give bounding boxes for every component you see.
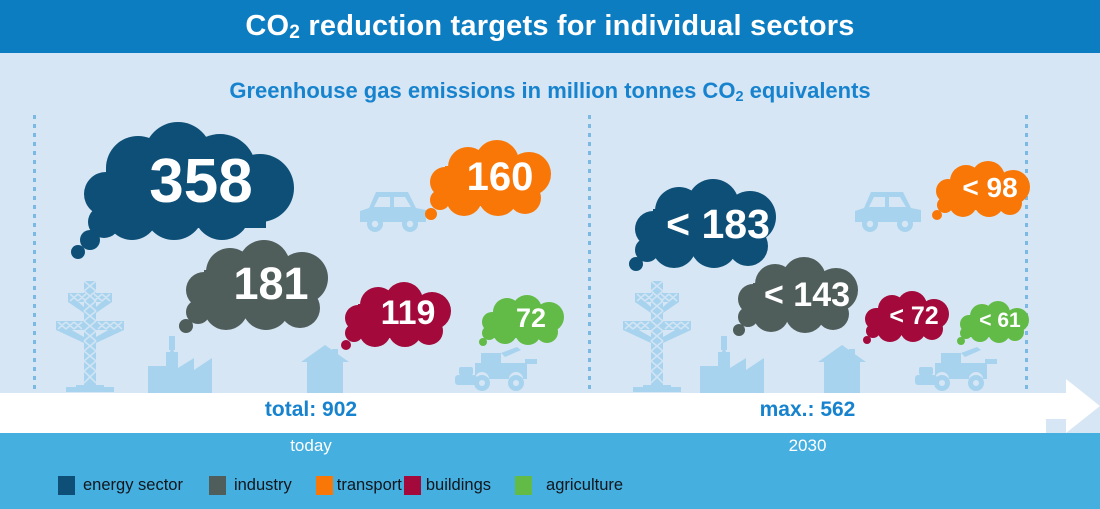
period-label-today: today xyxy=(33,436,589,456)
title-bar: CO2 reduction targets for individual sec… xyxy=(0,0,1100,53)
legend-label-transport: transport xyxy=(337,476,402,495)
legend: energy sector industry transport buildin… xyxy=(58,473,623,497)
legend-item-agriculture[interactable]: agriculture xyxy=(515,473,623,497)
factory-icon-today xyxy=(148,336,212,394)
page-title-suffix: reduction targets for individual sectors xyxy=(300,10,854,42)
period-label-2030: 2030 xyxy=(589,436,1026,456)
cloud-buildings-2030: < 72 xyxy=(862,290,956,348)
legend-swatch-transport xyxy=(316,476,333,495)
legend-item-buildings[interactable]: buildings xyxy=(404,473,491,497)
factory-icon-2030 xyxy=(700,336,764,394)
total-label-2030: max.: 562 xyxy=(589,398,1026,422)
legend-swatch-buildings xyxy=(404,476,421,495)
legend-swatch-industry xyxy=(209,476,226,495)
cloud-buildings-today: 119 xyxy=(340,281,462,355)
legend-label-buildings: buildings xyxy=(426,476,491,495)
legend-item-transport[interactable]: transport xyxy=(316,473,402,497)
house-icon-2030 xyxy=(818,345,866,395)
chart-subtitle: Greenhouse gas emissions in million tonn… xyxy=(0,78,1100,104)
legend-label-agriculture: agriculture xyxy=(546,476,623,495)
legend-item-energy-sector[interactable]: energy sector xyxy=(58,473,183,497)
car-icon-2030 xyxy=(853,186,923,234)
page-title-prefix: CO xyxy=(245,10,289,42)
legend-swatch-energy-sector xyxy=(58,476,75,495)
legend-label-energy-sector: energy sector xyxy=(83,476,183,495)
timeline-arrow-icon xyxy=(1022,379,1100,447)
total-label-today: total: 902 xyxy=(33,398,589,422)
infographic-root: CO2 reduction targets for individual sec… xyxy=(0,0,1100,509)
cloud-agriculture-2030: < 61 xyxy=(957,300,1035,348)
page-title-subscript: 2 xyxy=(289,22,300,43)
cloud-agriculture-today: 72 xyxy=(478,294,572,350)
power-pylon-icon-today xyxy=(54,273,126,395)
harvester-icon-today xyxy=(455,345,539,395)
legend-item-industry[interactable]: industry xyxy=(209,473,292,497)
cloud-industry-2030: < 143 xyxy=(732,258,868,342)
cloud-transport-today: 160 xyxy=(424,140,560,226)
cloud-industry-today: 181 xyxy=(178,240,344,342)
cloud-transport-2030: < 98 xyxy=(932,160,1036,224)
harvester-icon-2030 xyxy=(915,345,999,395)
page-title: CO2 reduction targets for individual sec… xyxy=(245,10,854,43)
legend-swatch-agriculture xyxy=(515,476,532,495)
legend-label-industry: industry xyxy=(234,476,292,495)
power-pylon-icon-2030 xyxy=(621,273,693,395)
car-icon-today xyxy=(358,186,428,234)
chart-subtitle-subscript: 2 xyxy=(735,89,743,105)
chart-subtitle-suffix: equivalents xyxy=(744,78,871,103)
chart-subtitle-prefix: Greenhouse gas emissions in million tonn… xyxy=(229,78,735,103)
